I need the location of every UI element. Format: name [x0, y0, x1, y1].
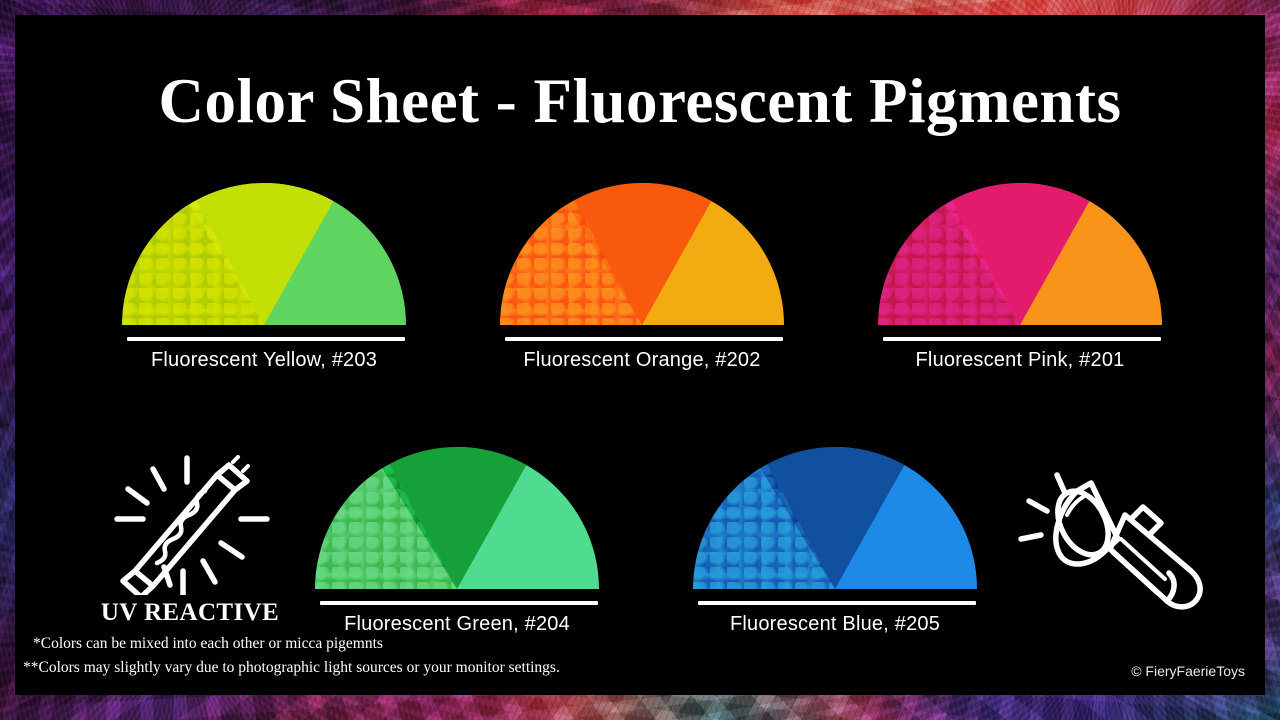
color-fan-orange — [500, 183, 784, 325]
color-fan-green — [315, 447, 599, 589]
swatch-label: Fluorescent Blue, #205 — [693, 613, 977, 636]
swatch-label: Fluorescent Orange, #202 — [500, 349, 784, 372]
swatch-card-blue[interactable]: Fluorescent Blue, #205 — [693, 447, 977, 589]
page-title: Color Sheet - Fluorescent Pigments — [15, 65, 1265, 138]
swatch-underline — [883, 337, 1161, 341]
swatch-underline — [320, 601, 598, 605]
swatch-label: Fluorescent Pink, #201 — [878, 349, 1162, 372]
swatch-underline — [127, 337, 405, 341]
swatch-card-green[interactable]: Fluorescent Green, #204 — [315, 447, 599, 589]
uv-reactive-label: UV REACTIVE — [95, 599, 285, 627]
color-sheet-page: Color Sheet - Fluorescent Pigments Fluor… — [0, 0, 1280, 720]
swatch-label: Fluorescent Green, #204 — [315, 613, 599, 636]
content-panel: Color Sheet - Fluorescent Pigments Fluor… — [15, 15, 1265, 695]
flashlight-badge — [1015, 453, 1215, 613]
swatch-card-pink[interactable]: Fluorescent Pink, #201 — [878, 183, 1162, 325]
footer-note-2: **Colors may slightly vary due to photog… — [23, 659, 560, 677]
swatch-card-orange[interactable]: Fluorescent Orange, #202 — [500, 183, 784, 325]
swatch-underline — [698, 601, 976, 605]
swatch-card-yellow[interactable]: Fluorescent Yellow, #203 — [122, 183, 406, 325]
flashlight-icon — [1015, 453, 1215, 613]
color-fan-blue — [693, 447, 977, 589]
uv-blacklight-tube-icon — [95, 445, 285, 595]
swatch-underline — [505, 337, 783, 341]
copyright-credit: © FieryFaerieToys — [1131, 663, 1245, 679]
footer-note-1: *Colors can be mixed into each other or … — [33, 635, 383, 653]
color-fan-yellow — [122, 183, 406, 325]
swatch-label: Fluorescent Yellow, #203 — [122, 349, 406, 372]
uv-reactive-badge: UV REACTIVE — [95, 445, 285, 627]
color-fan-pink — [878, 183, 1162, 325]
